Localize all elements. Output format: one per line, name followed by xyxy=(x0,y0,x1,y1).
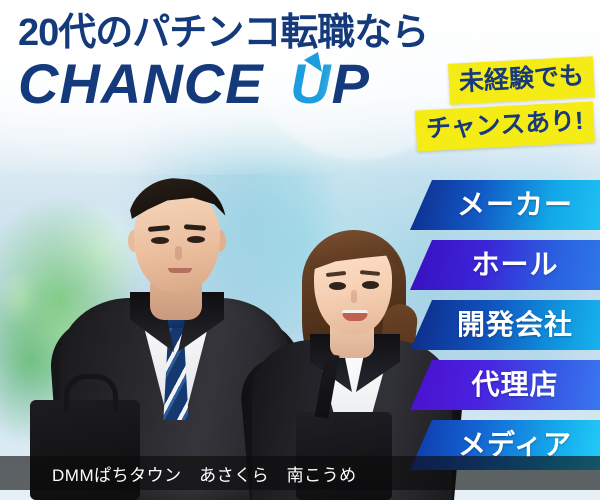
headline-up-p: P xyxy=(332,52,370,115)
headline-line-1: 20代のパチンコ転職なら xyxy=(18,14,428,52)
category-item-hall[interactable]: ホール xyxy=(410,240,600,290)
female-eye-left xyxy=(329,282,346,290)
female-mouth xyxy=(342,310,368,321)
headline-line-2: CHANCE UP xyxy=(18,56,428,112)
female-eye-right xyxy=(362,281,379,289)
headline-up-wrap: UP xyxy=(290,56,370,112)
category-list: メーカー ホール 開発会社 代理店 メディア xyxy=(410,180,600,480)
category-label: ホール xyxy=(457,251,558,279)
credit-text: DMMぱちタウン あさくら 南こうめ xyxy=(0,461,357,486)
male-mouth xyxy=(168,268,192,273)
category-label: メーカー xyxy=(443,191,573,219)
promo-badge-line-1: 未経験でも xyxy=(448,56,595,105)
headline: 20代のパチンコ転職なら CHANCE UP xyxy=(18,14,428,112)
male-eye-right xyxy=(187,236,205,243)
promo-badge: 未経験でも チャンスあり! xyxy=(416,60,594,147)
category-item-maker[interactable]: メーカー xyxy=(410,180,600,230)
category-label: 開発会社 xyxy=(443,311,573,339)
credit-bar: DMMぱちタウン あさくら 南こうめ xyxy=(0,456,600,490)
headline-up-u: U xyxy=(290,52,331,115)
male-eye-left xyxy=(151,237,169,244)
headline-chance-text: CHANCE xyxy=(18,52,264,115)
female-nose xyxy=(351,290,357,303)
category-label: 代理店 xyxy=(457,371,558,399)
category-item-development-company[interactable]: 開発会社 xyxy=(410,300,600,350)
briefcase-left-handle xyxy=(64,374,118,411)
promo-badge-line-2: チャンスあり! xyxy=(415,101,594,151)
male-nose xyxy=(175,246,182,260)
category-item-agency[interactable]: 代理店 xyxy=(410,360,600,410)
category-label: メディア xyxy=(444,431,572,459)
banner[interactable]: 20代のパチンコ転職なら CHANCE UP 未経験でも チャンスあり! メーカ… xyxy=(0,0,600,500)
